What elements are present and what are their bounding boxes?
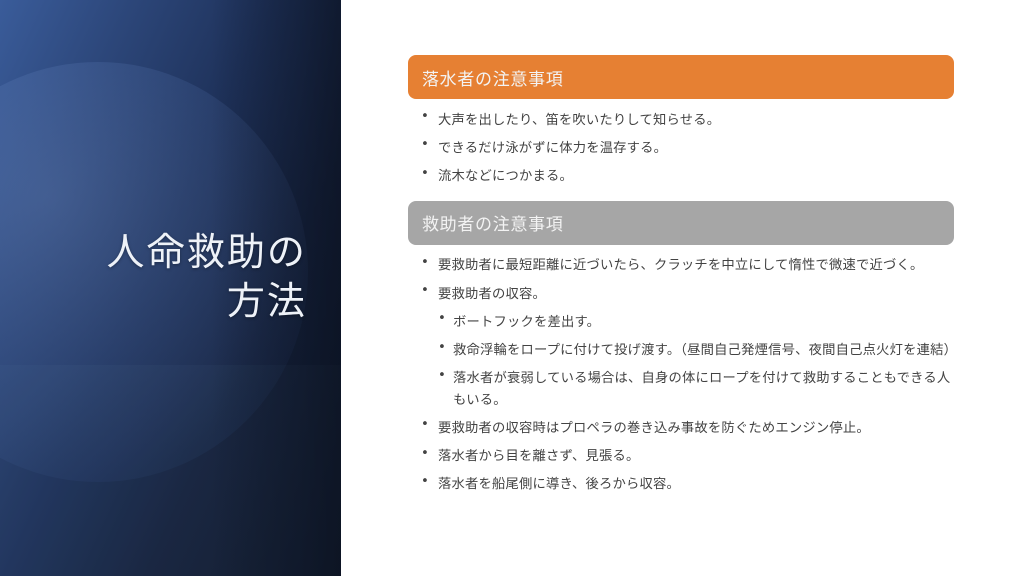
list-item-text: 流木などにつかまる。 — [438, 166, 954, 187]
list-item-text: 要救助者に最短距離に近づいたら、クラッチを中立にして惰性で微速で近づく。 — [438, 255, 954, 276]
bullet-list-1: • 大声を出したり、笛を吹いたりして知らせる。 • できるだけ泳がずに体力を温存… — [408, 106, 954, 191]
bullet-dot-icon: • — [421, 252, 429, 273]
list-item-text: 落水者から目を離さず、見張る。 — [438, 446, 954, 467]
list-item: • ボートフックを差出す。 — [438, 308, 954, 336]
list-item-text: 救命浮輪をロープに付けて投げ渡す。（昼間自己発煙信号、夜間自己点火灯を連結） — [453, 340, 954, 361]
section-header-2: 救助者の注意事項 — [408, 201, 954, 245]
list-item-text: 要救助者の収容時はプロペラの巻き込み事故を防ぐためエンジン停止。 — [438, 418, 954, 439]
bullet-dot-icon: • — [421, 280, 429, 301]
list-item-text: 大声を出したり、笛を吹いたりして知らせる。 — [438, 110, 954, 131]
bullet-dot-icon: • — [438, 365, 446, 386]
list-item: • 大声を出したり、笛を吹いたりして知らせる。 — [421, 106, 954, 134]
bullet-dot-icon: • — [421, 443, 429, 464]
page-title-line-2: 方法 — [24, 277, 307, 326]
list-item: • 流木などにつかまる。 — [421, 163, 954, 191]
bullet-dot-icon: • — [438, 337, 446, 358]
bullet-dot-icon: • — [421, 134, 429, 155]
bullet-dot-icon: • — [421, 414, 429, 435]
list-item-text: ボートフックを差出す。 — [453, 312, 954, 333]
bullet-dot-icon: • — [421, 106, 429, 127]
list-item: • できるだけ泳がずに体力を温存する。 — [421, 134, 954, 162]
list-item-text: 要救助者の収容。 — [438, 284, 954, 305]
list-item: • 救命浮輪をロープに付けて投げ渡す。（昼間自己発煙信号、夜間自己点火灯を連結） — [438, 337, 954, 365]
top-spacer — [408, 0, 954, 55]
page-title-line-1: 人命救助の — [24, 228, 307, 277]
list-item: • 要救助者の収容。 — [421, 280, 954, 308]
bullet-dot-icon: • — [438, 308, 446, 329]
slide: 人命救助の 方法 落水者の注意事項 • 大声を出したり、笛を吹いたりして知らせる… — [0, 0, 1024, 576]
list-item: • 落水者から目を離さず、見張る。 — [421, 443, 954, 471]
list-item: • 要救助者の収容時はプロペラの巻き込み事故を防ぐためエンジン停止。 — [421, 414, 954, 442]
spacer-between-sections — [408, 191, 954, 201]
bullet-dot-icon: • — [421, 163, 429, 184]
section-header-1: 落水者の注意事項 — [408, 55, 954, 99]
list-item-text: 落水者が衰弱している場合は、自身の体にロープを付けて救助することもできる人もいる… — [453, 368, 954, 411]
list-item: • 落水者を船尾側に導き、後ろから収容。 — [421, 471, 954, 499]
spacer-after-header-1 — [408, 99, 954, 106]
list-item: • 落水者が衰弱している場合は、自身の体にロープを付けて救助することもできる人も… — [438, 365, 954, 415]
list-item: • 要救助者に最短距離に近づいたら、クラッチを中立にして惰性で微速で近づく。 — [421, 252, 954, 280]
spacer-after-header-2 — [408, 245, 954, 252]
bullet-dot-icon: • — [421, 471, 429, 492]
title-panel: 人命救助の 方法 — [0, 0, 341, 576]
page-title: 人命救助の 方法 — [24, 228, 307, 327]
section-ochimizusha: 落水者の注意事項 • 大声を出したり、笛を吹いたりして知らせる。 • できるだけ… — [408, 55, 954, 191]
list-item-text: できるだけ泳がずに体力を温存する。 — [438, 138, 954, 159]
section-kyujosha: 救助者の注意事項 • 要救助者に最短距離に近づいたら、クラッチを中立にして惰性で… — [408, 201, 954, 499]
list-item-text: 落水者を船尾側に導き、後ろから収容。 — [438, 474, 954, 495]
bullet-list-2: • 要救助者に最短距離に近づいたら、クラッチを中立にして惰性で微速で近づく。 •… — [408, 252, 954, 499]
content-body: 落水者の注意事項 • 大声を出したり、笛を吹いたりして知らせる。 • できるだけ… — [408, 0, 954, 576]
